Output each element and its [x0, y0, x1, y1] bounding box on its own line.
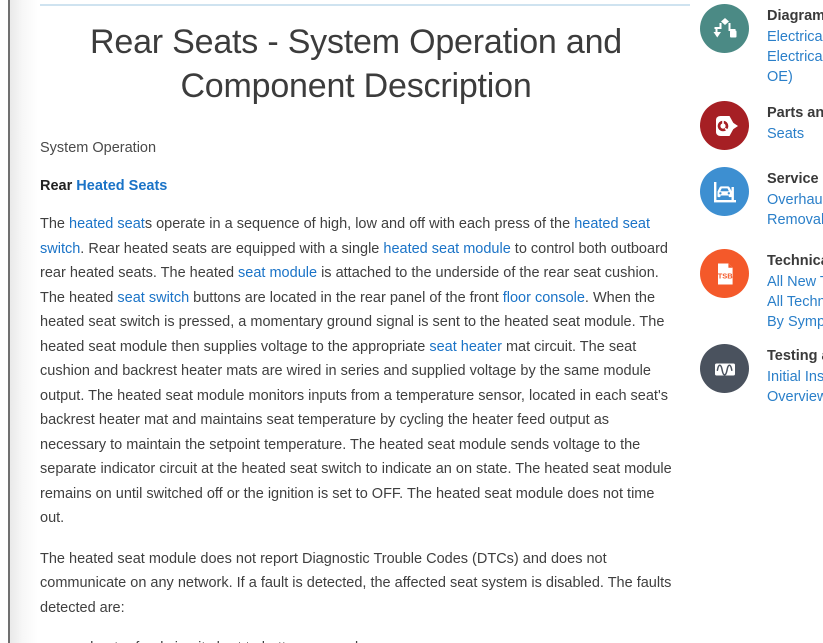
- page-title: Rear Seats - System Operation and Compon…: [40, 20, 672, 108]
- link-heated-seat[interactable]: heated seat: [69, 216, 145, 232]
- related-item-service-and-repair[interactable]: Service and Repair Overhaul Removal and …: [700, 167, 823, 230]
- related-link[interactable]: Seats: [767, 124, 823, 144]
- link-seat-switch[interactable]: seat switch: [117, 290, 189, 306]
- related-item-title: Diagrams: [767, 6, 823, 26]
- related-item-text: Technical Service Bulletins All New TSBs…: [767, 249, 823, 332]
- link-heated-seats[interactable]: Heated Seats: [76, 178, 167, 194]
- para1-seg8: mat circuit. The seat cushion and backre…: [40, 339, 672, 527]
- related-item-title: Testing and Inspection: [767, 346, 823, 366]
- para1-seg2: s operate in a sequence of high, low and…: [145, 216, 574, 232]
- related-item-title: Parts and Labor: [767, 103, 823, 123]
- article-content: Rear Seats - System Operation and Compon…: [40, 10, 672, 643]
- related-item-title: Technical Service Bulletins: [767, 251, 823, 271]
- page-viewport: Rear Seats - System Operation and Compon…: [0, 0, 823, 643]
- related-link[interactable]: Overview: [767, 387, 823, 407]
- related-item-title: Service and Repair: [767, 169, 823, 189]
- left-page-shadow: [10, 0, 38, 643]
- list-item: a heater feed circuit short to battery, …: [78, 636, 672, 643]
- wiring-diagram-icon: [700, 4, 749, 53]
- related-link[interactable]: Overhaul: [767, 190, 823, 210]
- related-item-text: Diagrams Electrical Electrical (Non- OE): [767, 4, 823, 87]
- sub-heading-plain-text: Rear: [40, 178, 72, 194]
- oscilloscope-waveform-icon: [700, 344, 749, 393]
- paragraph-dtc-faults: The heated seat module does not report D…: [40, 547, 672, 621]
- related-link[interactable]: Initial Inspection: [767, 367, 823, 387]
- tsb-document-icon: TSB: [700, 249, 749, 298]
- related-item-technical-service-bulletins[interactable]: TSB Technical Service Bulletins All New …: [700, 249, 823, 332]
- related-item-text: Parts and Labor Seats: [767, 101, 823, 144]
- link-seat-module[interactable]: seat module: [238, 265, 317, 281]
- related-item-text: Testing and Inspection Initial Inspectio…: [767, 344, 823, 407]
- para1-seg3: . Rear heated seats are equipped with a …: [80, 241, 383, 257]
- related-item-diagrams[interactable]: Diagrams Electrical Electrical (Non- OE): [700, 4, 823, 87]
- para1-seg1: The: [40, 216, 69, 232]
- related-link[interactable]: Electrical (Non-: [767, 47, 823, 67]
- related-link[interactable]: All New TSBs: [767, 272, 823, 292]
- related-link[interactable]: OE): [767, 67, 823, 87]
- svg-text:TSB: TSB: [717, 271, 733, 280]
- left-gutter: [0, 0, 8, 643]
- related-item-text: Service and Repair Overhaul Removal and …: [767, 167, 823, 230]
- link-seat-heater[interactable]: seat heater: [429, 339, 502, 355]
- related-link[interactable]: All Technical Service Bulletins: [767, 292, 823, 312]
- service-lift-icon: [700, 167, 749, 216]
- parts-tag-icon: [700, 101, 749, 150]
- link-floor-console[interactable]: floor console: [503, 290, 585, 306]
- related-link[interactable]: Removal and Replacement: [767, 210, 823, 230]
- related-information-panel: Diagrams Electrical Electrical (Non- OE): [700, 0, 823, 643]
- related-link[interactable]: By Symptom: [767, 312, 823, 332]
- sub-heading-rear-heated-seats: Rear Heated Seats: [40, 176, 672, 196]
- paragraph-system-operation: The heated seats operate in a sequence o…: [40, 212, 672, 531]
- link-heated-seat-module[interactable]: heated seat module: [383, 241, 510, 257]
- related-link[interactable]: Electrical: [767, 27, 823, 47]
- para1-seg6: buttons are located in the rear panel of…: [189, 290, 503, 306]
- section-label-system-operation: System Operation: [40, 138, 672, 158]
- related-item-testing-and-inspection[interactable]: Testing and Inspection Initial Inspectio…: [700, 344, 823, 407]
- top-divider-rule: [40, 4, 690, 6]
- related-item-parts-and-labor[interactable]: Parts and Labor Seats: [700, 101, 823, 150]
- fault-list: a heater feed circuit short to battery, …: [40, 636, 672, 643]
